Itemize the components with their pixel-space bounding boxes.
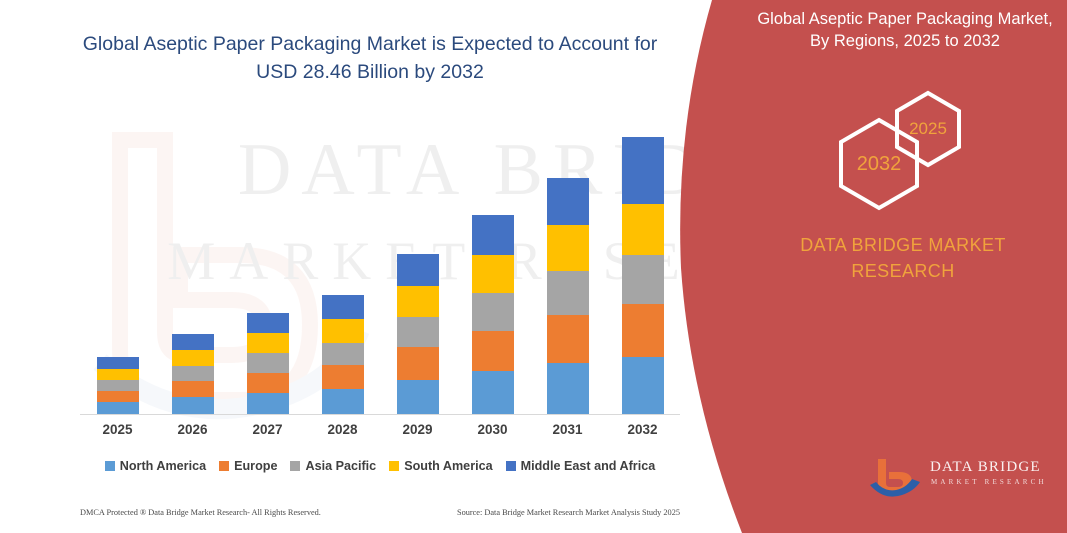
footer-bar: DMCA Protected ® Data Bridge Market Rese… [80, 508, 680, 517]
bar-segment-middle-east-and-africa [322, 295, 364, 319]
stacked-bar [547, 178, 589, 414]
legend-label: Asia Pacific [305, 459, 376, 473]
bar-segment-middle-east-and-africa [97, 357, 139, 369]
bar-column-2025 [83, 110, 153, 414]
bar-segment-asia-pacific [622, 255, 664, 304]
legend-label: Europe [234, 459, 277, 473]
bar-segment-north-america [622, 357, 664, 414]
legend-item-asia-pacific[interactable]: Asia Pacific [290, 459, 376, 473]
bar-segment-asia-pacific [472, 293, 514, 330]
legend-item-europe[interactable]: Europe [219, 459, 277, 473]
bar-segment-asia-pacific [322, 343, 364, 366]
bar-column-2030 [458, 110, 528, 414]
bar-group [80, 110, 680, 414]
legend-swatch-icon [219, 461, 229, 471]
bar-segment-south-america [172, 350, 214, 366]
stacked-bar [397, 254, 439, 414]
bar-column-2032 [608, 110, 678, 414]
x-axis-label-2029: 2029 [383, 422, 453, 437]
bar-segment-asia-pacific [247, 353, 289, 372]
bar-segment-north-america [322, 389, 364, 414]
legend-swatch-icon [389, 461, 399, 471]
x-axis-label-2032: 2032 [608, 422, 678, 437]
legend-item-north-america[interactable]: North America [105, 459, 206, 473]
x-axis-label-2026: 2026 [158, 422, 228, 437]
infographic-canvas: DATA BRIDGE MARKET RESEARCH Global Asept… [0, 0, 1067, 533]
bar-column-2027 [233, 110, 303, 414]
logo-text-secondary: MARKET RESEARCH [931, 478, 1047, 486]
bar-segment-north-america [172, 397, 214, 414]
legend-label: South America [404, 459, 492, 473]
x-axis-labels: 20252026202720282029203020312032 [80, 418, 680, 440]
hexagon-year-2025: 2025 [892, 90, 964, 168]
bar-segment-middle-east-and-africa [172, 334, 214, 350]
bar-segment-europe [172, 381, 214, 397]
stacked-bar [172, 334, 214, 414]
stacked-bar [622, 137, 664, 414]
legend-label: Middle East and Africa [521, 459, 656, 473]
stacked-bar [322, 295, 364, 414]
bar-column-2028 [308, 110, 378, 414]
bar-segment-south-america [97, 369, 139, 380]
x-axis-label-2031: 2031 [533, 422, 603, 437]
bar-segment-middle-east-and-africa [397, 254, 439, 286]
footer-source: Source: Data Bridge Market Research Mark… [457, 508, 680, 517]
bar-segment-asia-pacific [397, 317, 439, 347]
bar-segment-europe [97, 391, 139, 402]
bar-segment-asia-pacific [547, 271, 589, 315]
bar-segment-north-america [397, 380, 439, 414]
panel-title: Global Aseptic Paper Packaging Market, B… [755, 8, 1055, 53]
bar-segment-europe [547, 315, 589, 362]
bar-segment-north-america [97, 402, 139, 414]
bar-segment-europe [397, 347, 439, 379]
company-logo: DATA BRIDGE MARKET RESEARCH [868, 455, 1058, 501]
footer-copyright: DMCA Protected ® Data Bridge Market Rese… [80, 508, 321, 517]
legend-label: North America [120, 459, 206, 473]
bar-segment-europe [622, 304, 664, 357]
bar-segment-middle-east-and-africa [547, 178, 589, 225]
logo-text-primary: DATA BRIDGE [930, 459, 1041, 476]
bar-segment-south-america [472, 255, 514, 294]
x-axis-line [80, 414, 680, 415]
bar-segment-middle-east-and-africa [247, 313, 289, 333]
bar-segment-south-america [547, 225, 589, 271]
bar-segment-asia-pacific [97, 380, 139, 391]
bar-segment-asia-pacific [172, 366, 214, 381]
red-panel-content: Global Aseptic Paper Packaging Market, B… [740, 0, 1067, 533]
legend-item-south-america[interactable]: South America [389, 459, 492, 473]
legend-swatch-icon [506, 461, 516, 471]
hexagon-year-2032-label: 2032 [857, 153, 902, 176]
data-bridge-b-mark-icon [868, 455, 928, 501]
x-axis-label-2028: 2028 [308, 422, 378, 437]
x-axis-label-2025: 2025 [83, 422, 153, 437]
bar-column-2029 [383, 110, 453, 414]
bar-segment-north-america [472, 371, 514, 414]
stacked-bar [472, 215, 514, 414]
bar-segment-europe [322, 365, 364, 389]
bar-segment-south-america [247, 333, 289, 353]
hexagon-group: 2032 2025 [740, 88, 1067, 208]
stacked-bar [247, 313, 289, 414]
bar-segment-europe [247, 373, 289, 393]
bar-column-2031 [533, 110, 603, 414]
bar-chart-plot-area [80, 110, 680, 415]
bar-segment-middle-east-and-africa [472, 215, 514, 255]
bar-segment-middle-east-and-africa [622, 137, 664, 204]
bar-segment-south-america [322, 319, 364, 342]
page-title: Global Aseptic Paper Packaging Market is… [60, 30, 680, 87]
legend-swatch-icon [290, 461, 300, 471]
bar-segment-north-america [547, 363, 589, 414]
brand-name: DATA BRIDGE MARKET RESEARCH [753, 232, 1053, 284]
stacked-bar [97, 357, 139, 414]
legend-swatch-icon [105, 461, 115, 471]
x-axis-label-2030: 2030 [458, 422, 528, 437]
x-axis-label-2027: 2027 [233, 422, 303, 437]
hexagon-year-2025-label: 2025 [909, 119, 947, 139]
chart-legend: North AmericaEuropeAsia PacificSouth Ame… [80, 455, 680, 477]
bar-column-2026 [158, 110, 228, 414]
bar-segment-europe [472, 331, 514, 371]
bar-segment-south-america [622, 204, 664, 255]
bar-segment-north-america [247, 393, 289, 414]
legend-item-middle-east-and-africa[interactable]: Middle East and Africa [506, 459, 656, 473]
bar-segment-south-america [397, 286, 439, 317]
